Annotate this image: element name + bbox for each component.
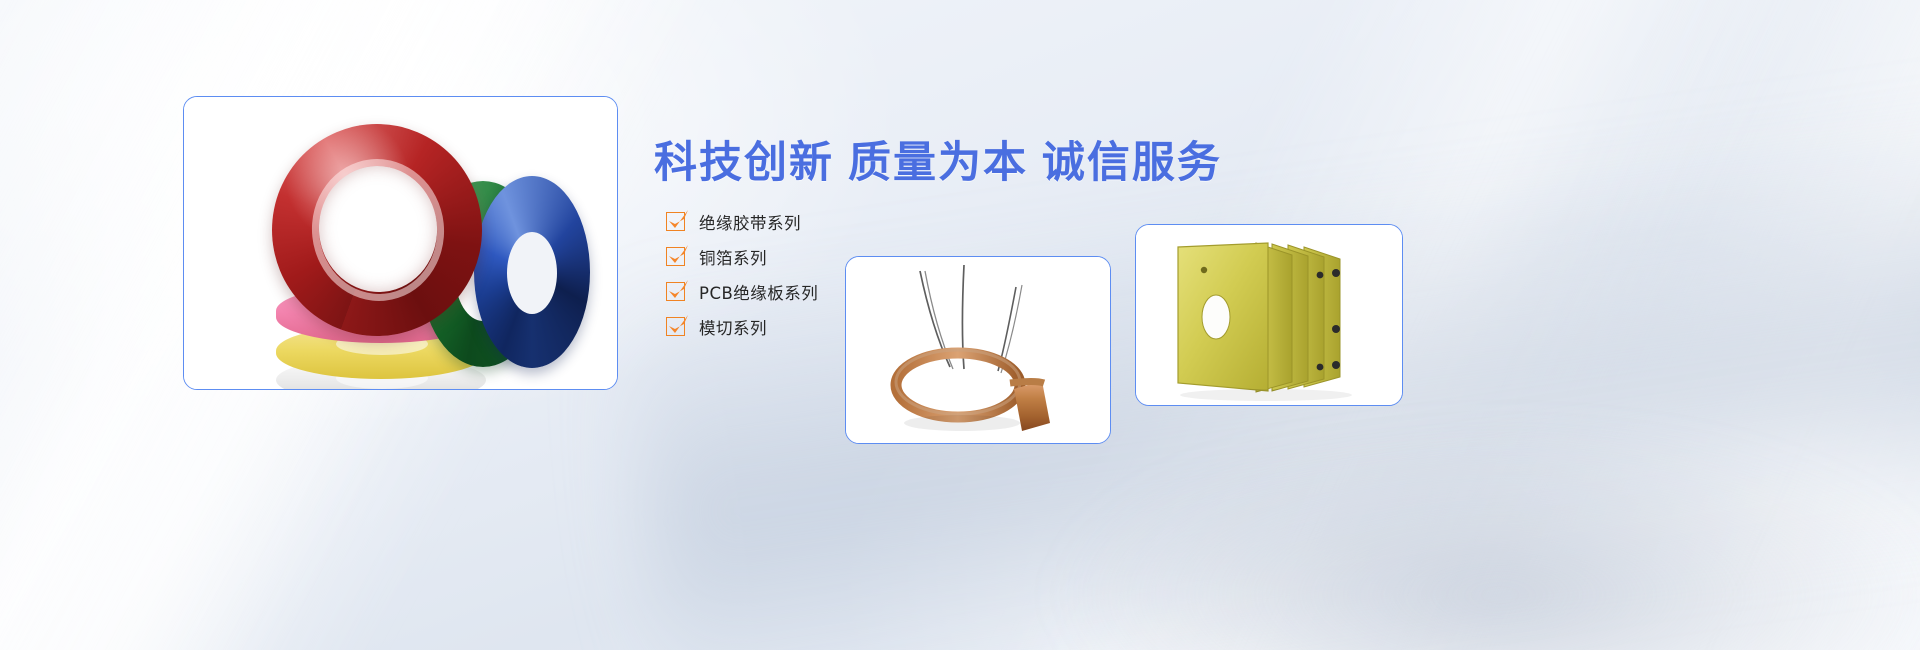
checkbox-checked-icon — [666, 212, 685, 231]
product-photo-epoxy-board — [1136, 225, 1402, 405]
list-item[interactable]: 绝缘胶带系列 — [666, 204, 818, 239]
list-item[interactable]: 铜箔系列 — [666, 239, 818, 274]
list-item-label: 模切系列 — [699, 315, 767, 339]
checkbox-checked-icon — [666, 317, 685, 336]
product-card-tapes[interactable] — [183, 96, 618, 390]
feature-list: 绝缘胶带系列 铜箔系列 PCB绝缘板系列 模切系列 — [666, 204, 818, 344]
product-photo-copper-foil — [846, 257, 1110, 443]
checkbox-checked-icon — [666, 282, 685, 301]
checkbox-checked-icon — [666, 247, 685, 266]
background-shadow — [1050, 430, 1920, 650]
product-card-copper-foil[interactable] — [845, 256, 1111, 444]
tape-roll-red — [272, 124, 482, 336]
list-item-label: 绝缘胶带系列 — [699, 210, 801, 234]
product-photo-tapes — [184, 97, 617, 389]
list-item[interactable]: PCB绝缘板系列 — [666, 274, 818, 309]
list-item-label: 铜箔系列 — [699, 245, 767, 269]
copper-foil-illustration — [846, 257, 1111, 444]
product-card-epoxy-board[interactable] — [1135, 224, 1403, 406]
page-title: 科技创新 质量为本 诚信服务 — [654, 128, 1222, 190]
epoxy-board-illustration — [1136, 225, 1403, 406]
tape-roll-blue — [474, 176, 590, 368]
list-item-label: PCB绝缘板系列 — [699, 280, 818, 304]
list-item[interactable]: 模切系列 — [666, 309, 818, 344]
